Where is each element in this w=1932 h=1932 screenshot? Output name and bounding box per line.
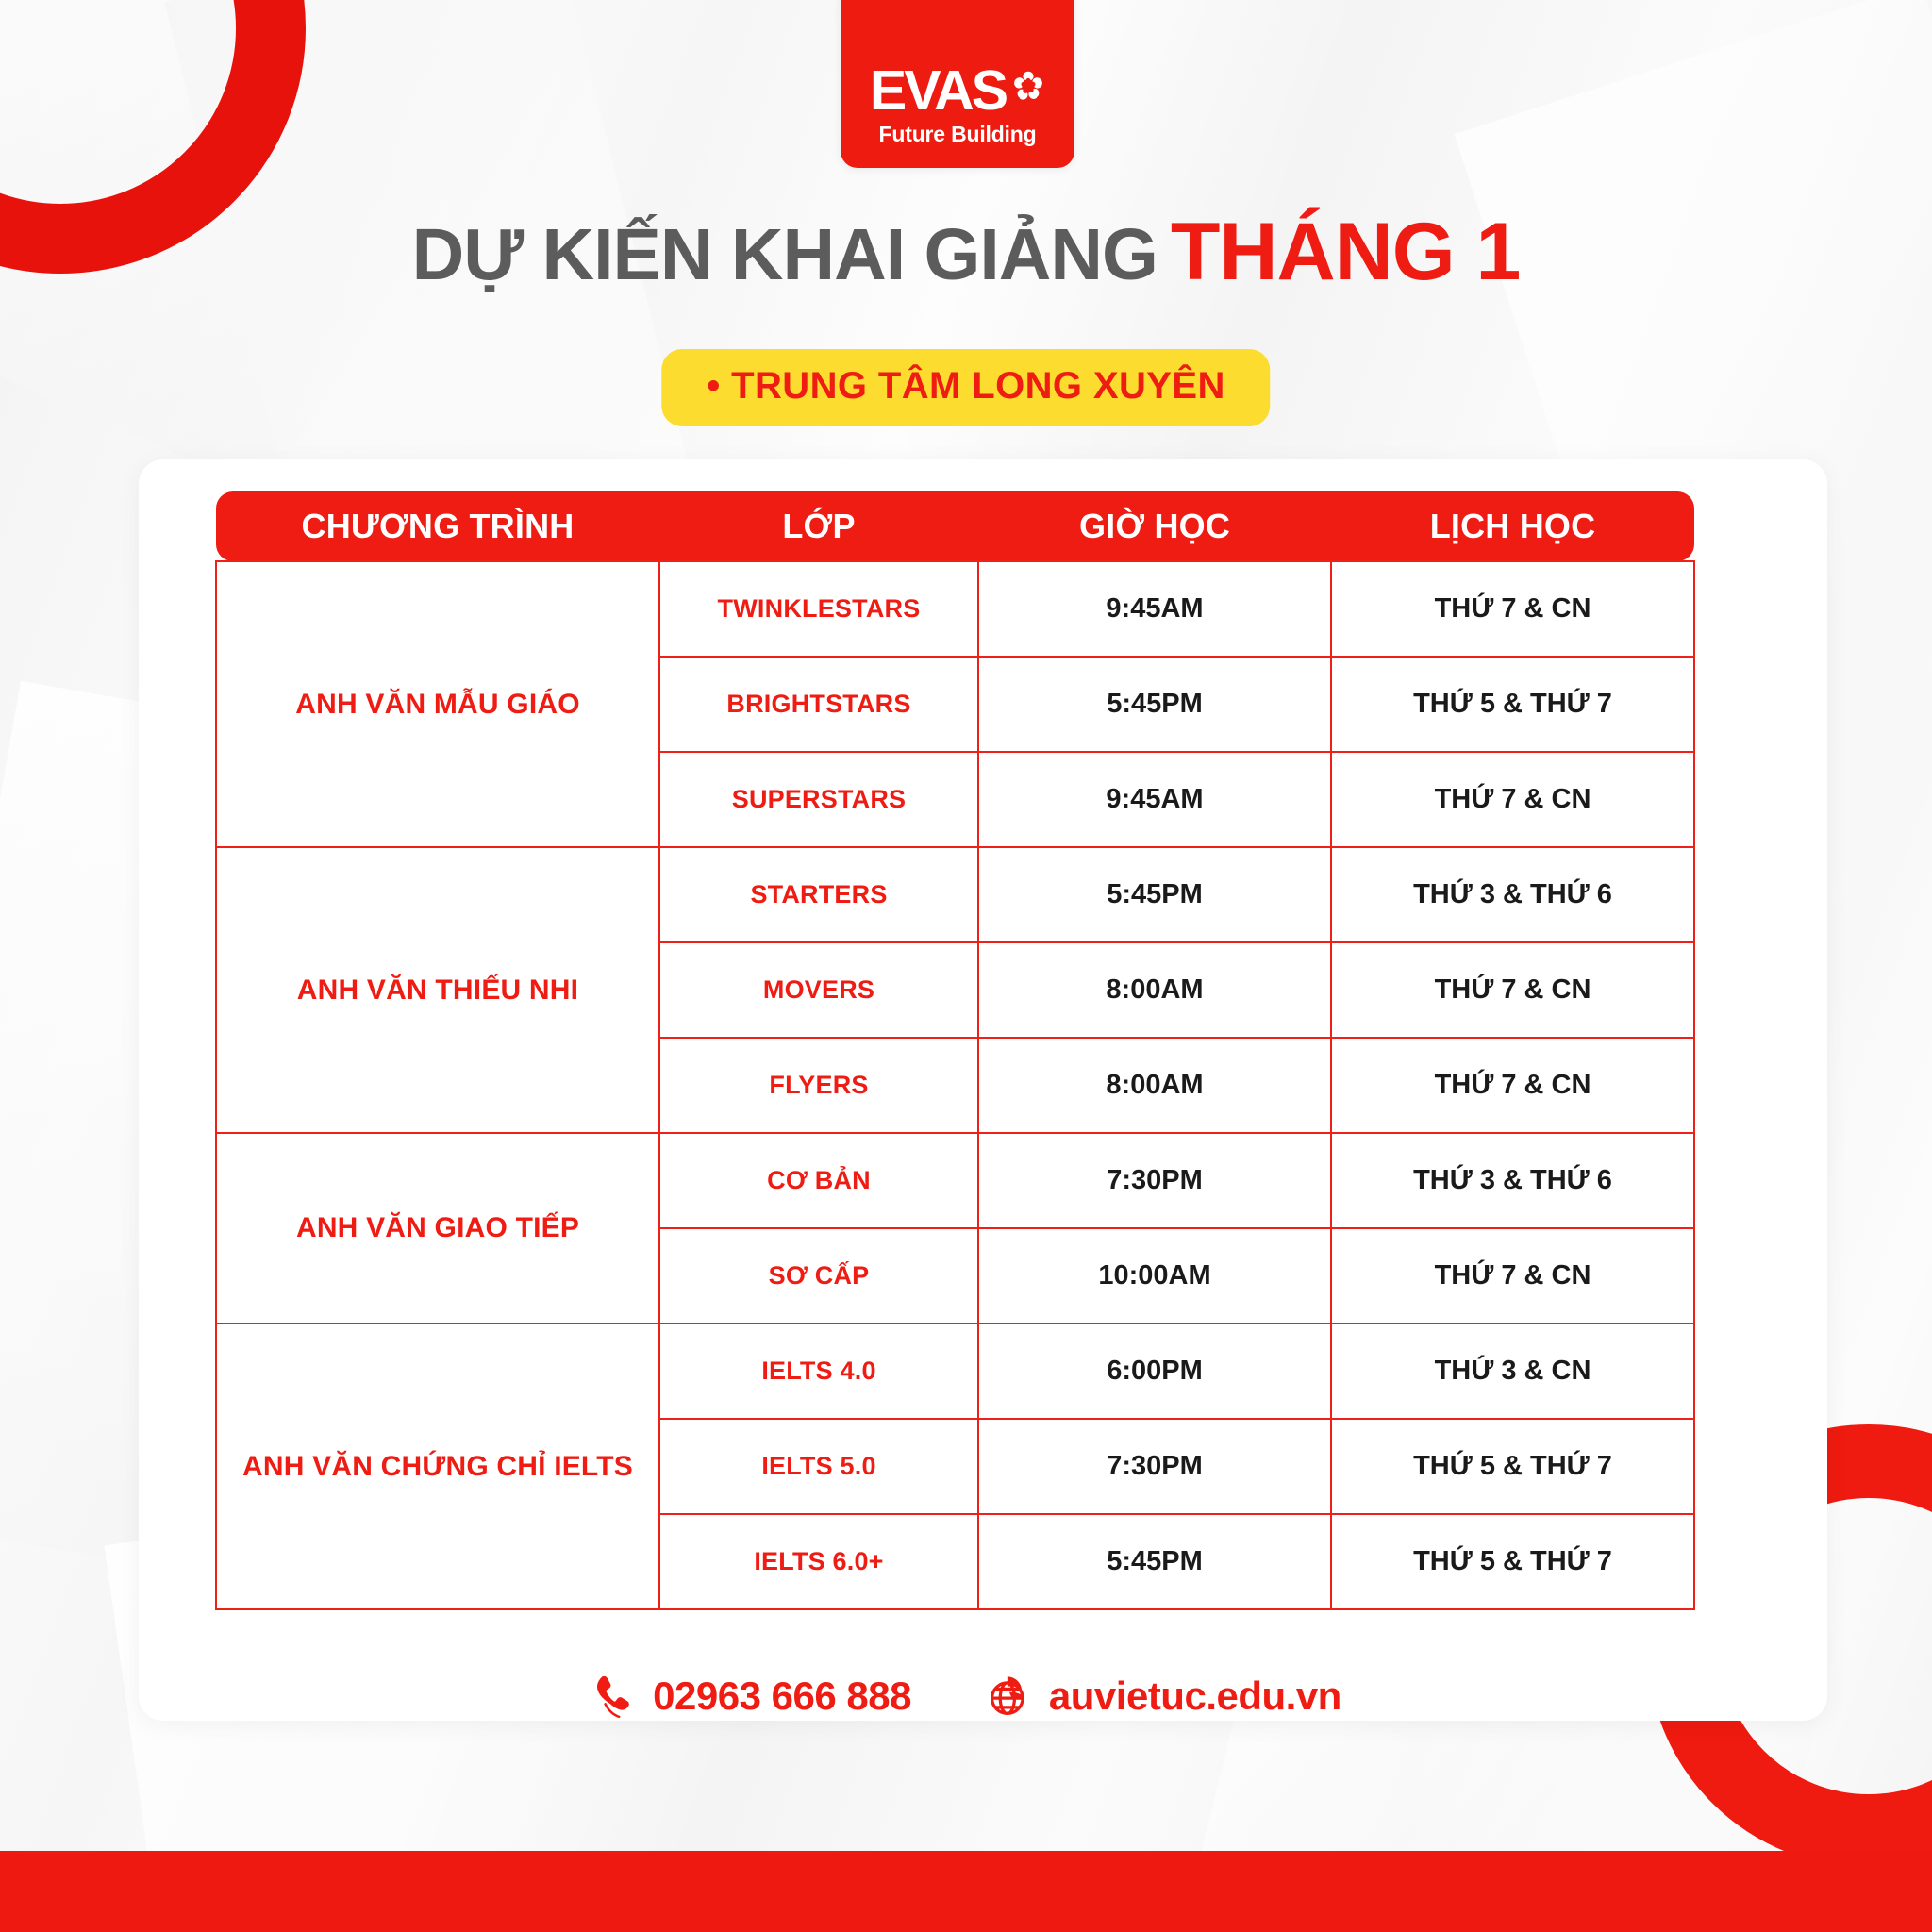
phone-number: 02963 666 888	[653, 1674, 911, 1719]
globe-icon	[985, 1672, 1034, 1721]
logo-wordmark: EVAS	[870, 65, 1045, 116]
time-cell: 5:45PM	[978, 1514, 1331, 1609]
brand-logo: EVAS Future Building	[841, 0, 1074, 168]
page-title-gray: DỰ KIẾN KHAI GIẢNG	[412, 214, 1158, 295]
schedule-cell: THỨ 5 & THỨ 7	[1331, 1419, 1694, 1514]
class-cell: IELTS 4.0	[659, 1324, 978, 1419]
footer-contacts: 02963 666 888 auvietuc.edu.vn	[0, 1672, 1932, 1721]
time-cell: 7:30PM	[978, 1419, 1331, 1514]
schedule-cell: THỨ 7 & CN	[1331, 942, 1694, 1038]
class-cell: IELTS 6.0+	[659, 1514, 978, 1609]
time-cell: 5:45PM	[978, 657, 1331, 752]
time-cell: 7:30PM	[978, 1133, 1331, 1228]
page-title: DỰ KIẾN KHAI GIẢNGTHÁNG 1	[0, 206, 1932, 299]
schedule-cell: THỨ 7 & CN	[1331, 752, 1694, 847]
schedule-table: CHƯƠNG TRÌNH LỚP GIỜ HỌC LỊCH HỌC ANH VĂ…	[215, 491, 1695, 1610]
program-cell: ANH VĂN GIAO TIẾP	[216, 1133, 659, 1324]
schedule-cell: THỨ 7 & CN	[1331, 1038, 1694, 1133]
schedule-cell: THỨ 7 & CN	[1331, 561, 1694, 657]
table-header: CHƯƠNG TRÌNH LỚP GIỜ HỌC LỊCH HỌC	[216, 491, 1694, 561]
class-cell: FLYERS	[659, 1038, 978, 1133]
class-cell: SƠ CẤP	[659, 1228, 978, 1324]
schedule-cell: THỨ 7 & CN	[1331, 1228, 1694, 1324]
column-header-schedule: LỊCH HỌC	[1331, 491, 1694, 561]
program-cell: ANH VĂN CHỨNG CHỈ IELTS	[216, 1324, 659, 1609]
table-header-row: CHƯƠNG TRÌNH LỚP GIỜ HỌC LỊCH HỌC	[216, 491, 1694, 561]
class-cell: BRIGHTSTARS	[659, 657, 978, 752]
time-cell: 8:00AM	[978, 1038, 1331, 1133]
column-header-time: GIỜ HỌC	[978, 491, 1331, 561]
bottom-red-bar	[0, 1851, 1932, 1932]
schedule-cell: THỨ 5 & THỨ 7	[1331, 1514, 1694, 1609]
page-title-red: THÁNG 1	[1171, 207, 1520, 297]
table-row: ANH VĂN CHỨNG CHỈ IELTSIELTS 4.06:00PMTH…	[216, 1324, 1694, 1419]
center-badge: • TRUNG TÂM LONG XUYÊN	[661, 349, 1270, 426]
class-cell: TWINKLESTARS	[659, 561, 978, 657]
program-cell: ANH VĂN THIẾU NHI	[216, 847, 659, 1133]
class-cell: IELTS 5.0	[659, 1419, 978, 1514]
time-cell: 10:00AM	[978, 1228, 1331, 1324]
logo-tagline: Future Building	[879, 122, 1037, 147]
phone-icon	[591, 1673, 638, 1720]
class-cell: SUPERSTARS	[659, 752, 978, 847]
class-cell: STARTERS	[659, 847, 978, 942]
column-header-class: LỚP	[659, 491, 978, 561]
table-row: ANH VĂN THIẾU NHISTARTERS5:45PMTHỨ 3 & T…	[216, 847, 1694, 942]
schedule-cell: THỨ 3 & THỨ 6	[1331, 1133, 1694, 1228]
time-cell: 9:45AM	[978, 752, 1331, 847]
contact-phone[interactable]: 02963 666 888	[591, 1673, 911, 1720]
table-body: ANH VĂN MẪU GIÁOTWINKLESTARS9:45AMTHỨ 7 …	[216, 561, 1694, 1609]
time-cell: 8:00AM	[978, 942, 1331, 1038]
program-cell: ANH VĂN MẪU GIÁO	[216, 561, 659, 847]
table-row: ANH VĂN GIAO TIẾPCƠ BẢN7:30PMTHỨ 3 & THỨ…	[216, 1133, 1694, 1228]
time-cell: 5:45PM	[978, 847, 1331, 942]
class-cell: CƠ BẢN	[659, 1133, 978, 1228]
column-header-program: CHƯƠNG TRÌNH	[216, 491, 659, 561]
center-badge-label: • TRUNG TÂM LONG XUYÊN	[707, 365, 1224, 408]
schedule-cell: THỨ 3 & THỨ 6	[1331, 847, 1694, 942]
time-cell: 6:00PM	[978, 1324, 1331, 1419]
logo-text: EVAS	[870, 65, 1006, 116]
flower-icon	[1011, 69, 1045, 103]
schedule-cell: THỨ 3 & CN	[1331, 1324, 1694, 1419]
contact-website[interactable]: auvietuc.edu.vn	[985, 1672, 1341, 1721]
schedule-cell: THỨ 5 & THỨ 7	[1331, 657, 1694, 752]
website-url: auvietuc.edu.vn	[1049, 1674, 1341, 1719]
class-cell: MOVERS	[659, 942, 978, 1038]
time-cell: 9:45AM	[978, 561, 1331, 657]
table-row: ANH VĂN MẪU GIÁOTWINKLESTARS9:45AMTHỨ 7 …	[216, 561, 1694, 657]
